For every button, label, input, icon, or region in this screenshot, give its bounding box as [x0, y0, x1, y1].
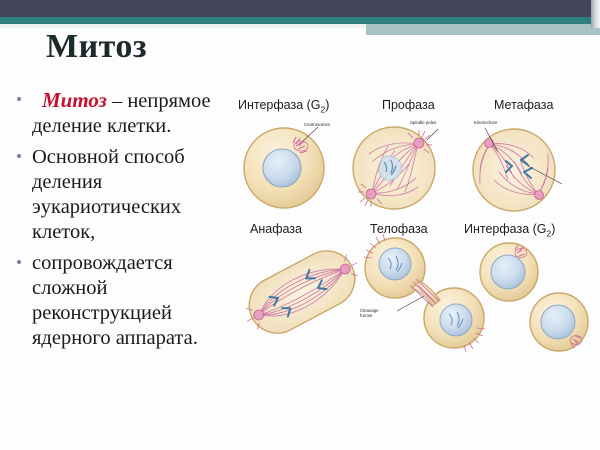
cell-anaphase [234, 238, 370, 346]
cell-interphase-1 [244, 127, 324, 208]
header-band-edge-right [591, 0, 600, 28]
header-band-teal [0, 17, 600, 24]
list-item: Митоз – непрямое деление клетки. [8, 88, 240, 139]
mitosis-diagram: Интерфаза (G2) Профаза Метафаза Анафаза … [232, 96, 600, 446]
bullet-dot-icon [17, 260, 21, 264]
bullet-lead-term: Митоз [42, 88, 107, 112]
header-band-light-right [366, 24, 600, 35]
slide-canvas: Митоз Митоз – непрямое деление клетки. О… [0, 0, 600, 450]
bullet-dot-icon [17, 154, 21, 158]
cell-prophase [353, 127, 438, 209]
cell-telophase [364, 234, 485, 352]
list-item: сопровождается сложной реконструкцией яд… [8, 251, 240, 351]
page-title: Митоз [46, 28, 147, 66]
cell-illustrations [232, 96, 600, 446]
bullet-dot-icon [17, 97, 21, 101]
spindle-pole-icon [535, 191, 544, 200]
bullet-text: Митоз – непрямое деление клетки. [32, 88, 240, 139]
bullet-text: Основной способ деления эукариотических … [32, 145, 240, 245]
cell-metaphase [473, 128, 562, 211]
spindle-pole-icon [485, 139, 494, 148]
cell-interphase-2-upper [480, 243, 538, 301]
cell-interphase-2-lower [530, 293, 588, 351]
bullet-text: сопровождается сложной реконструкцией яд… [32, 251, 240, 351]
header-band-dark [0, 0, 600, 17]
bullet-list: Митоз – непрямое деление клетки. Основно… [8, 88, 240, 357]
list-item: Основной способ деления эукариотических … [8, 145, 240, 245]
